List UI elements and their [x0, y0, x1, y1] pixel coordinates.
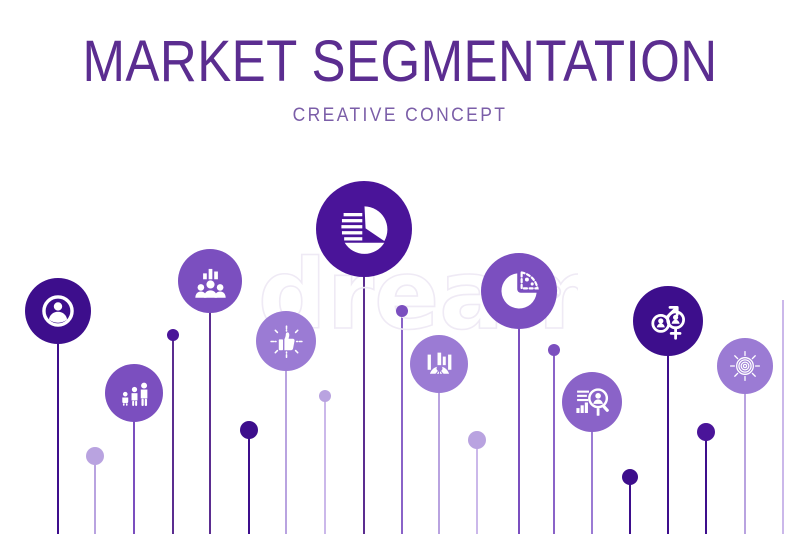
- user-profile-icon: [39, 292, 77, 330]
- infographic-canvas: dreamstime ® MARKET SEGMENTATION CREATIV…: [0, 0, 800, 534]
- node-stem-3: [209, 281, 211, 534]
- marker-dot-d7[interactable]: [548, 344, 560, 356]
- page-title: MARKET SEGMENTATION: [48, 0, 752, 93]
- family-age-group-icon: [118, 377, 151, 410]
- node-circle-8[interactable]: [562, 372, 622, 432]
- dot-stem-d2: [248, 430, 249, 534]
- donut-share-icon: [497, 269, 541, 313]
- page-subtitle: CREATIVE CONCEPT: [32, 93, 768, 127]
- dot-stem-d3: [324, 396, 325, 534]
- dot-stem-d8: [401, 311, 402, 534]
- node-circle-1[interactable]: [25, 278, 91, 344]
- dot-stem-d7: [553, 350, 554, 534]
- dot-stem-d1: [94, 456, 95, 534]
- header: MARKET SEGMENTATION CREATIVE CONCEPT: [0, 0, 800, 127]
- marker-dot-d2[interactable]: [240, 421, 258, 439]
- marker-dot-d4[interactable]: [468, 431, 486, 449]
- node-circle-3[interactable]: [178, 249, 242, 313]
- marker-dot-d8[interactable]: [396, 305, 408, 317]
- dot-stem-d5: [629, 477, 630, 534]
- connector-line: [782, 300, 784, 534]
- node-circle-2[interactable]: [105, 364, 163, 422]
- audience-bar-chart-icon: [192, 263, 229, 300]
- positioning-chart-icon: [423, 348, 456, 381]
- marker-dot-d6[interactable]: [697, 423, 715, 441]
- dot-stem-d6: [705, 432, 706, 534]
- node-circle-10[interactable]: [717, 338, 773, 394]
- node-circle-4[interactable]: [256, 311, 316, 371]
- node-circle-9[interactable]: [633, 286, 703, 356]
- market-research-icon: [575, 385, 610, 420]
- connector-line: [57, 344, 59, 534]
- thumbs-up-rays-icon: [269, 324, 304, 359]
- gender-symbols-icon: [648, 301, 688, 341]
- node-circle-5[interactable]: [316, 181, 412, 277]
- marker-dot-d1[interactable]: [86, 447, 104, 465]
- marker-dot-d5[interactable]: [622, 469, 638, 485]
- node-circle-7[interactable]: [481, 253, 557, 329]
- target-bullseye-icon: [729, 350, 761, 382]
- node-circle-6[interactable]: [410, 335, 468, 393]
- marker-dot-d3[interactable]: [319, 390, 331, 402]
- dot-stem-d4: [476, 440, 477, 534]
- dot-stem-d9: [172, 335, 173, 534]
- pie-segmentation-icon: [337, 202, 392, 257]
- marker-dot-d9[interactable]: [167, 329, 179, 341]
